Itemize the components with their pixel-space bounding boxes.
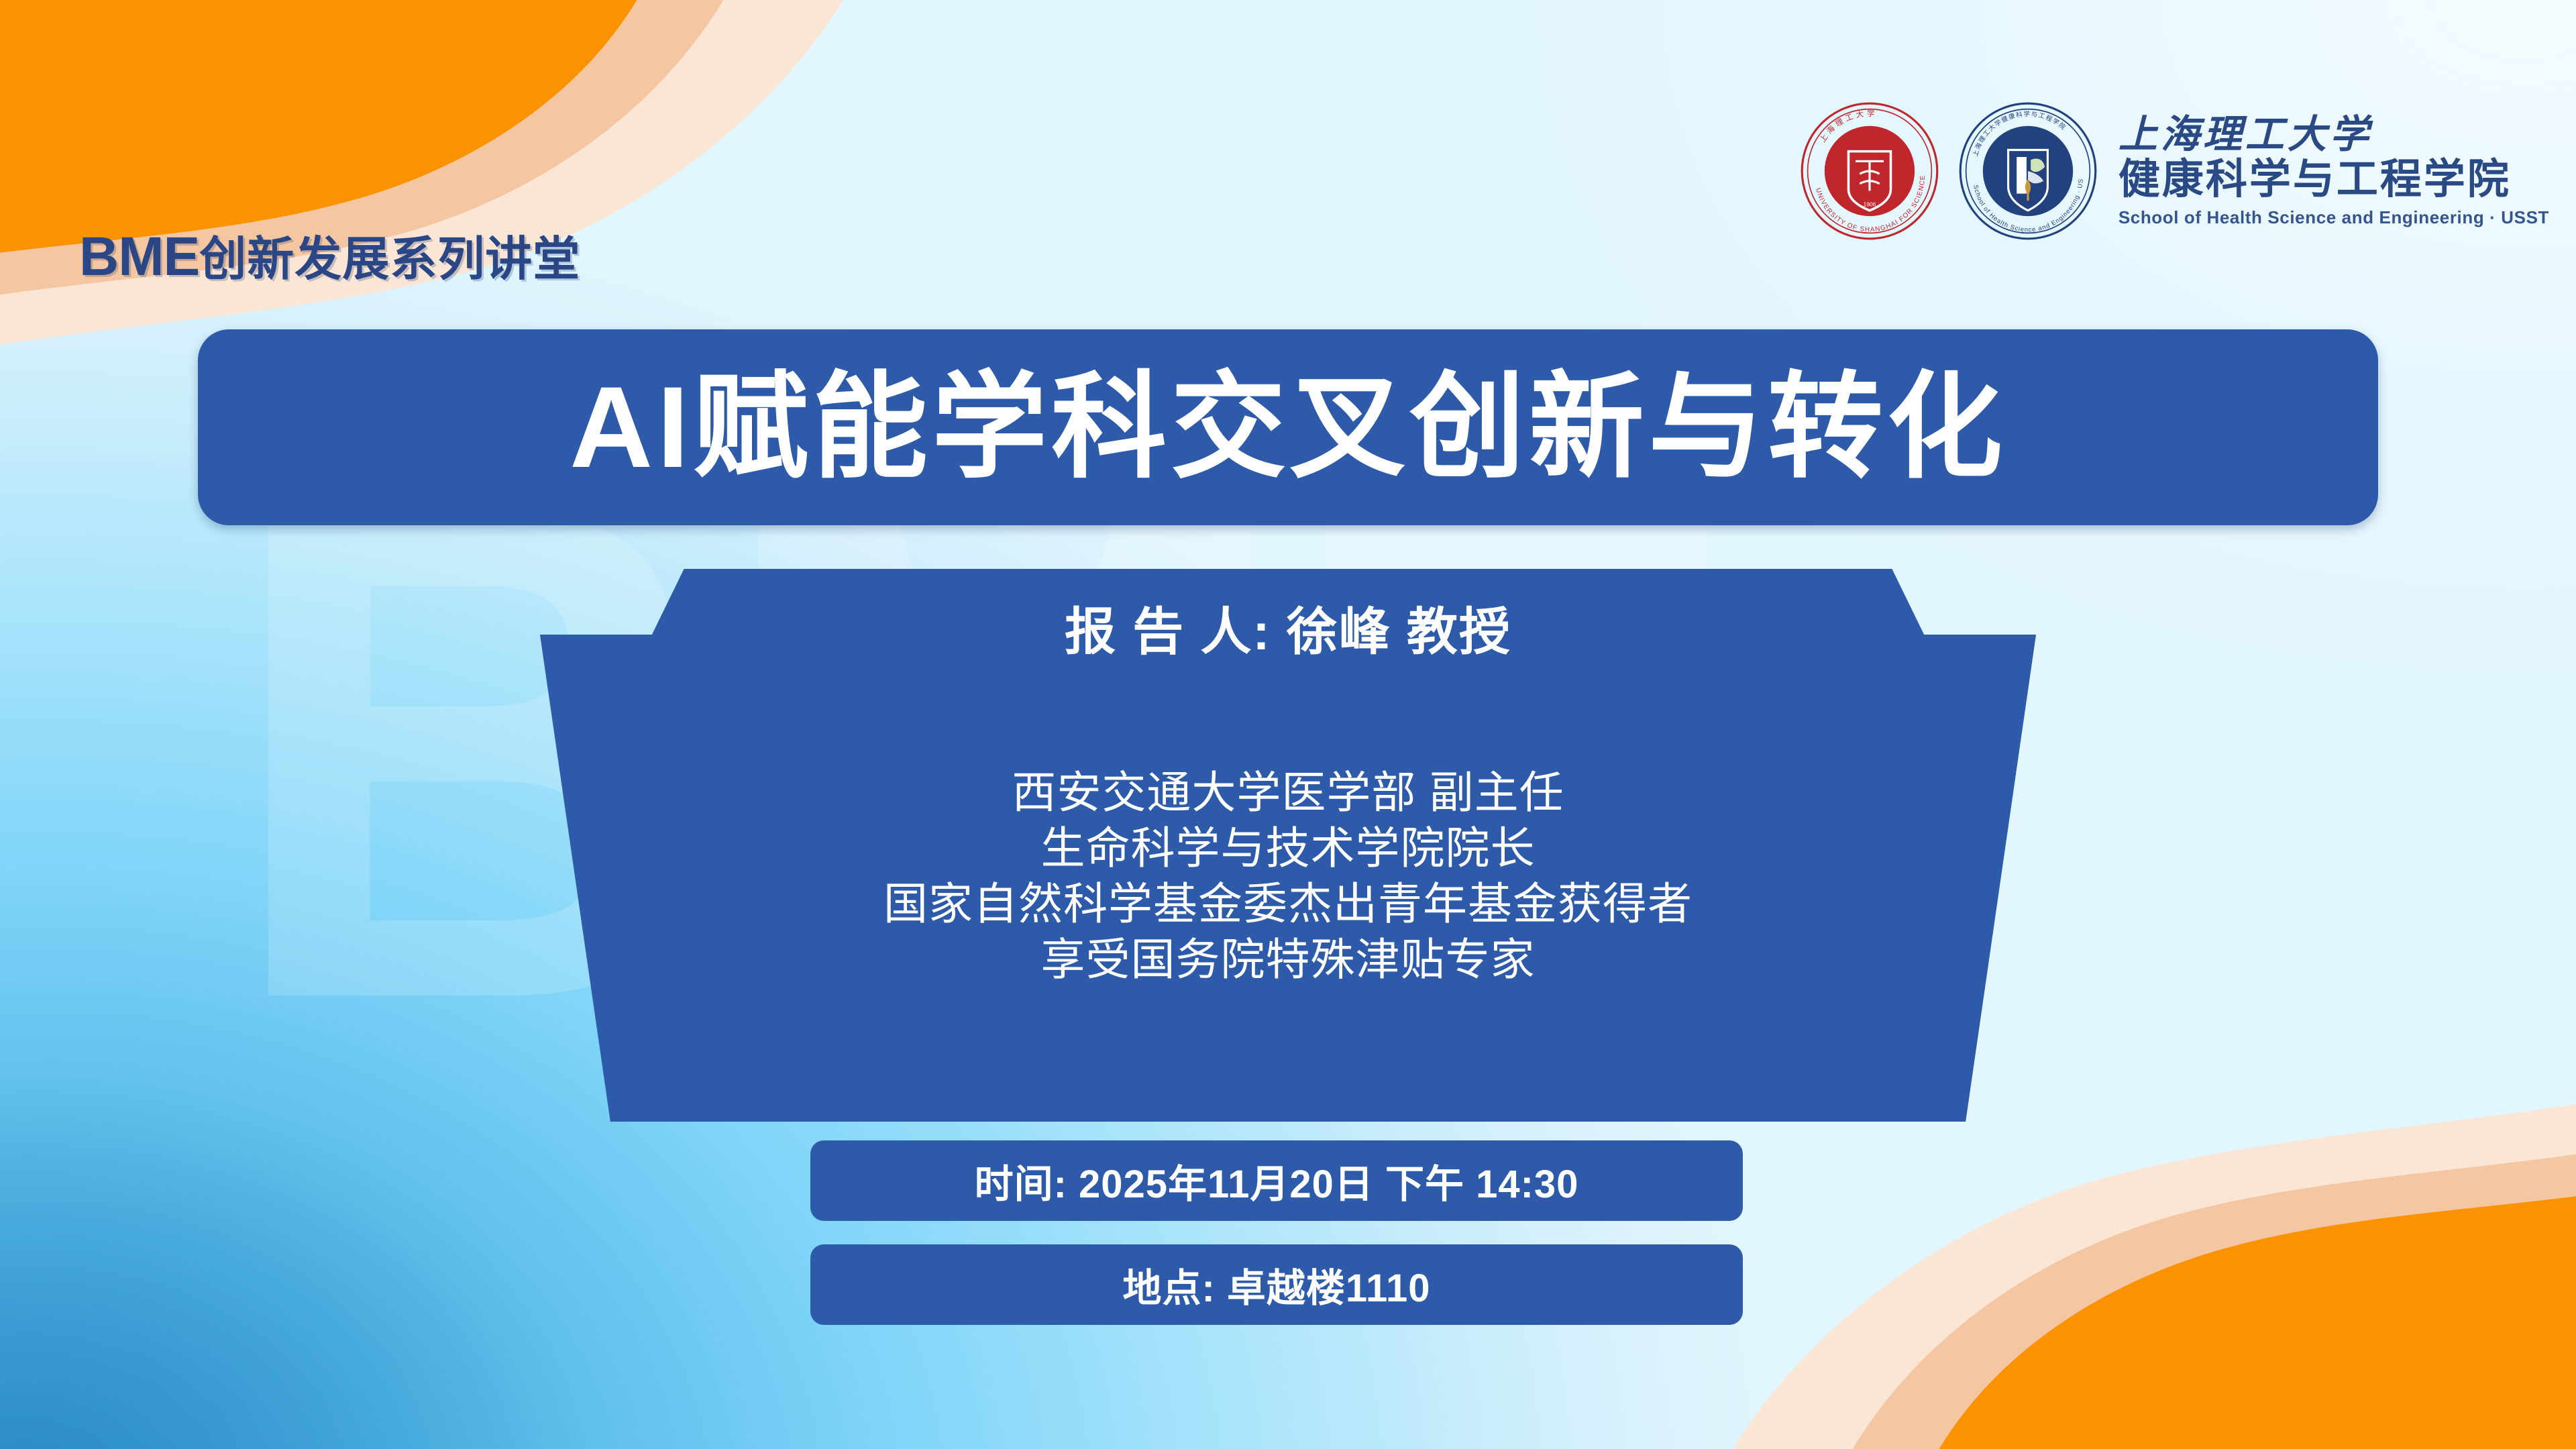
- event-time-pill: 时间: 2025年11月20日 下午 14:30: [810, 1140, 1743, 1221]
- school-of-health-science-seal-icon: School of Health Science and Engineering…: [1957, 101, 2098, 241]
- poster-root: BME BME创新发展系列讲堂 1906 UNIVERSITY OF SHANG…: [0, 0, 2576, 1449]
- main-title-text: AI赋能学科交叉创新与转化: [570, 370, 2006, 485]
- speaker-bio-line: 享受国务院特殊津贴专家: [0, 932, 2576, 987]
- school-name-block: 上海理工大学 健康科学与工程学院 School of Health Scienc…: [2118, 114, 2549, 227]
- svg-text:1906: 1906: [1863, 201, 1876, 208]
- speaker-bio-line: 国家自然科学基金委杰出青年基金获得者: [0, 876, 2576, 932]
- logo-block: 1906 UNIVERSITY OF SHANGHAI FOR SCIENCE …: [1799, 101, 2549, 241]
- series-title-cjk: 创新发展系列讲堂: [199, 233, 580, 285]
- usst-university-seal-icon: 1906 UNIVERSITY OF SHANGHAI FOR SCIENCE …: [1799, 101, 1940, 241]
- event-place-pill: 地点: 卓越楼1110: [810, 1244, 1743, 1325]
- speaker-name-line: 报 告 人: 徐峰 教授: [0, 590, 2576, 664]
- school-name-en: School of Health Science and Engineering…: [2118, 207, 2549, 228]
- main-title-banner: AI赋能学科交叉创新与转化: [198, 329, 2378, 525]
- speaker-bio-line: 西安交通大学医学部 副主任: [0, 765, 2576, 820]
- speaker-bio-line: 生命科学与技术学院院长: [0, 820, 2576, 876]
- series-title: BME创新发展系列讲堂: [79, 221, 580, 289]
- series-title-latin: BME: [79, 226, 199, 287]
- speaker-bio-list: 西安交通大学医学部 副主任 生命科学与技术学院院长 国家自然科学基金委杰出青年基…: [0, 765, 2576, 988]
- school-name-cn: 健康科学与工程学院: [2118, 156, 2549, 203]
- university-name-cn: 上海理工大学: [2118, 114, 2549, 156]
